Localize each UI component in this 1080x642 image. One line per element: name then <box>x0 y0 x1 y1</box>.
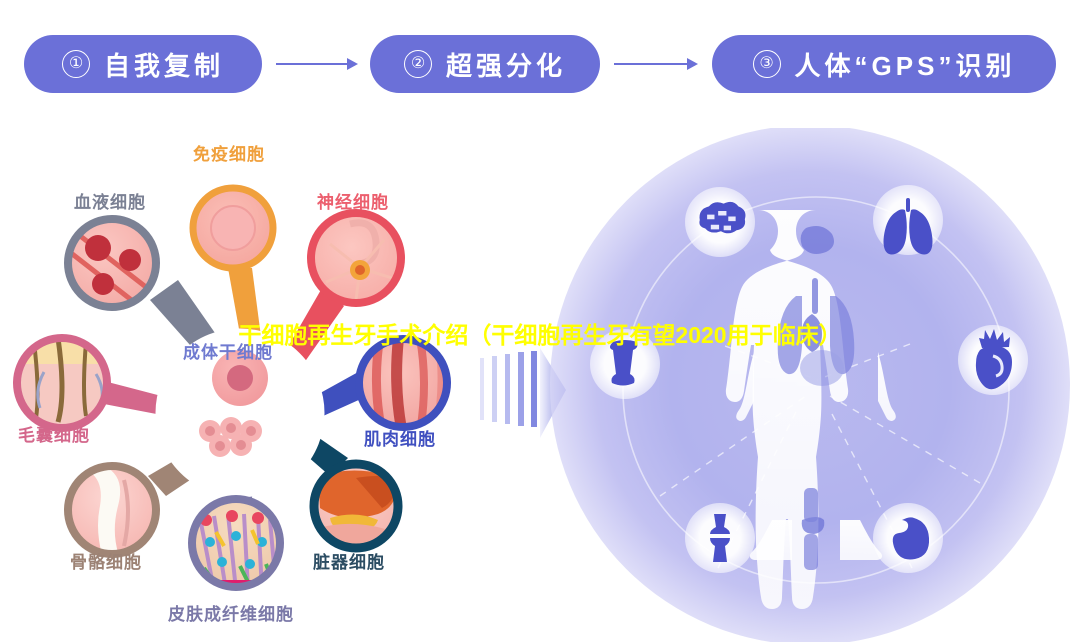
knee-joint-icon[interactable] <box>685 503 755 573</box>
step-pill-2[interactable]: ② 超强分化 <box>370 35 600 93</box>
step-arrow-1-icon <box>276 62 358 66</box>
process-steps-bar: ① 自我复制 ② 超强分化 ③ 人体“GPS”识别 <box>0 0 1080 128</box>
nerve-cell-icon <box>311 213 401 303</box>
cell-label-hair: 毛囊细胞 <box>18 421 90 446</box>
arrow-shaft <box>276 63 347 65</box>
arrow-shaft <box>614 63 687 65</box>
human-body-gps-diagram <box>540 128 1080 642</box>
brain-icon[interactable] <box>685 187 755 257</box>
blood-cell-icon <box>62 219 160 316</box>
circled-number-three-icon: ③ <box>753 50 781 78</box>
circled-number-two-icon: ② <box>404 50 432 78</box>
step-pill-1[interactable]: ① 自我复制 <box>24 35 262 93</box>
organ-cell-icon <box>314 464 398 550</box>
step-pill-3[interactable]: ③ 人体“GPS”识别 <box>712 35 1056 93</box>
skin-fibroblast-cell-icon <box>192 499 282 592</box>
step-pill-1-label: 自我复制 <box>104 46 224 83</box>
body-panel-svg <box>540 128 1080 642</box>
cell-label-muscle: 肌肉细胞 <box>364 425 436 450</box>
circled-number-one-icon: ① <box>62 50 90 78</box>
step-pill-3-label: 人体“GPS”识别 <box>795 46 1016 83</box>
cell-label-nerve: 神经细胞 <box>317 188 389 213</box>
stem-cell-differentiation-diagram: 血液细胞 免疫细胞 神经细胞 毛囊细胞 肌肉细胞 骨骼细胞 皮肤成纤维细胞 脏器… <box>0 128 520 642</box>
cell-label-organ: 脏器细胞 <box>313 548 385 573</box>
hair-follicle-cell-icon <box>14 338 114 434</box>
cell-label-skin-fibroblast: 皮肤成纤维细胞 <box>168 600 294 625</box>
step-pill-2-label: 超强分化 <box>446 46 566 83</box>
cell-label-bone: 骨骼细胞 <box>70 548 142 573</box>
arrow-head <box>687 58 698 70</box>
lungs-icon[interactable] <box>873 185 943 255</box>
immune-cell-icon <box>193 188 273 268</box>
cell-label-immune: 免疫细胞 <box>193 140 265 165</box>
kidney-icon[interactable] <box>873 503 943 573</box>
step-arrow-2-icon <box>614 62 698 66</box>
cell-label-blood: 血液细胞 <box>74 188 146 213</box>
overlay-watermark-title: 干细胞再生牙手术介绍（干细胞再生牙有望2020用于临床） <box>0 316 1080 350</box>
arrow-head <box>347 58 358 70</box>
